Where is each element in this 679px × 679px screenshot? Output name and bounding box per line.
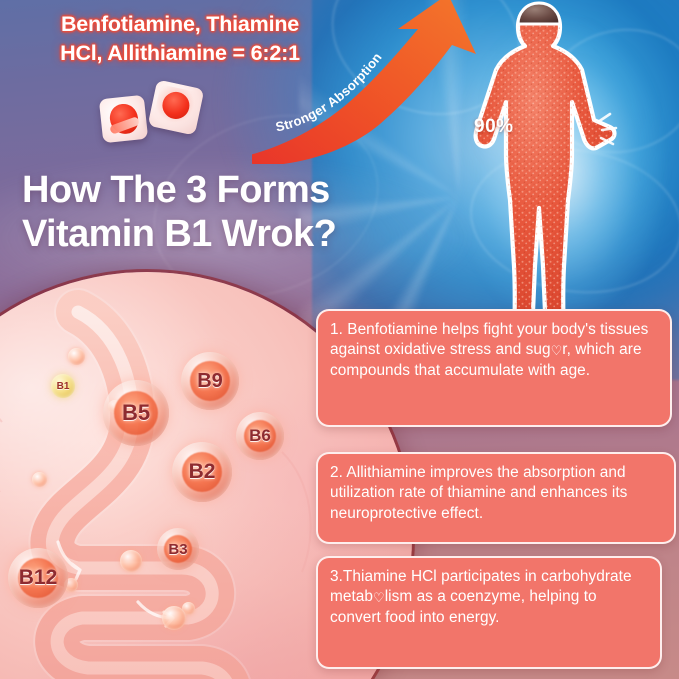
- vitamin-bubble-b3: B3: [157, 528, 199, 570]
- micro-particle: [32, 472, 47, 487]
- vitamin-bubble-b5-label: B5: [122, 400, 150, 426]
- page-title-line1: How The 3 Forms: [22, 168, 452, 212]
- tablet-icon-right: [148, 80, 205, 136]
- infographic-poster: Benfotiamine, Thiamine HCl, Allithiamine…: [0, 0, 679, 679]
- benefit-card-2: 2. Allithiamine improves the absorption …: [316, 452, 676, 544]
- body-figure: [444, 0, 634, 334]
- tablet-icon-left: [99, 95, 148, 143]
- vitamin-bubble-b2-label: B2: [189, 460, 216, 484]
- vitamin-bubble-b1-label: B1: [57, 381, 70, 392]
- vitamin-bubble-b12: B12: [8, 548, 68, 608]
- vitamin-bubble-b2: B2: [172, 442, 232, 502]
- micro-particle: [162, 606, 186, 630]
- vitamin-bubble-b5: B5: [103, 380, 169, 446]
- vitamin-bubble-b9-label: B9: [197, 370, 223, 393]
- page-title: How The 3 Forms Vitamin B1 Wrok?: [22, 168, 452, 256]
- benefit-card-1: 1. Benfotiamine helps fight your body's …: [316, 309, 672, 427]
- vitamin-bubble-b9: B9: [181, 352, 239, 410]
- absorption-percent-label: 90%: [474, 116, 514, 138]
- page-title-line2: Vitamin B1 Wrok?: [22, 212, 452, 256]
- micro-particle: [120, 550, 142, 572]
- vitamin-bubble-b6-label: B6: [249, 426, 271, 446]
- vitamin-bubble-b3-label: B3: [168, 541, 187, 558]
- vitamin-bubble-b1: B1: [51, 374, 75, 398]
- benefit-card-3: 3.Thiamine HCl participates in carbohydr…: [316, 556, 662, 669]
- vitamin-bubble-b6: B6: [236, 412, 284, 460]
- heart-icon: ♡: [373, 591, 385, 604]
- vitamin-bubble-b12-label: B12: [19, 566, 58, 590]
- micro-particle: [68, 348, 85, 365]
- heart-icon: ♡: [551, 344, 563, 357]
- benefit-card-2-text-a: 2. Allithiamine improves the absorption …: [330, 464, 627, 522]
